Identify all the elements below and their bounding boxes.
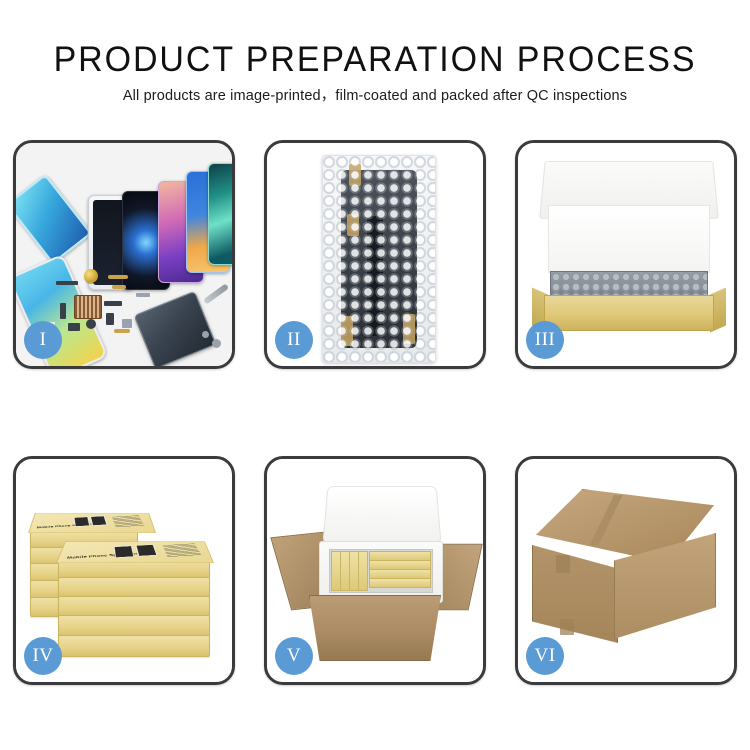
page-title: PRODUCT PREPARATION PROCESS (11, 0, 739, 79)
step-badge-3: III (526, 321, 564, 359)
spare-part (136, 293, 150, 297)
connector-grid-part (74, 295, 102, 319)
phone-display-teal (208, 163, 232, 265)
spare-part (202, 331, 209, 338)
spare-part (68, 323, 80, 331)
box-label-window (136, 544, 158, 556)
spare-part (86, 319, 96, 329)
step-badge-2: II (275, 321, 313, 359)
spare-part (108, 275, 128, 279)
spare-part (56, 281, 78, 285)
tape-strip (403, 314, 415, 344)
box-lid-top: Mobile Phone Spare Parts (56, 541, 214, 563)
stacked-box (58, 615, 210, 637)
stacked-box (58, 596, 210, 617)
process-step-3: III (515, 140, 737, 369)
carton-left-face (532, 545, 618, 643)
process-step-grid: I II (13, 140, 737, 685)
spare-part (212, 339, 221, 348)
process-step-6: VI (515, 456, 737, 685)
spare-part (104, 301, 122, 306)
page-subtitle: All products are image-printed，film-coat… (0, 79, 750, 105)
carton-tape (556, 555, 570, 573)
carton-tape (560, 619, 574, 635)
step-badge-4: IV (24, 637, 62, 675)
packed-box (369, 578, 431, 588)
step-badge-6: VI (526, 637, 564, 675)
step-badge-1: I (24, 321, 62, 359)
foam-sheet (548, 205, 710, 273)
spare-part (106, 313, 114, 325)
box-lid-top: Mobile Phone Spare Parts (28, 513, 156, 533)
repair-tool (203, 283, 229, 304)
foam-box-lid (322, 486, 441, 544)
process-step-2: II (264, 140, 486, 369)
product-preparation-process-infographic: PRODUCT PREPARATION PROCESS All products… (0, 0, 750, 750)
carton-body (309, 595, 441, 661)
spare-part (60, 303, 66, 319)
box-label-window (114, 546, 135, 558)
phone-back-plate (16, 174, 92, 265)
vibration-motor-part (84, 269, 98, 283)
step-badge-5: V (275, 637, 313, 675)
spare-part (114, 329, 130, 333)
box-front-panel (544, 295, 714, 331)
stacked-box (58, 577, 210, 598)
box-label-window (74, 517, 91, 527)
spare-part (112, 285, 126, 289)
stacked-box (58, 635, 210, 657)
tape-strip (341, 316, 353, 346)
process-step-1: I (13, 140, 235, 369)
bubble-wrap-bag (322, 155, 436, 363)
spare-part (122, 319, 132, 328)
wrapped-flex-cable (367, 216, 383, 336)
process-step-5: V (264, 456, 486, 685)
process-row-bottom: Mobile Phone Spare Parts (13, 456, 737, 685)
box-label-window (90, 516, 107, 526)
tape-strip (347, 214, 359, 236)
tape-strip (349, 164, 361, 186)
header: PRODUCT PREPARATION PROCESS All products… (0, 0, 750, 105)
box-label-lines (112, 515, 144, 527)
packed-box (358, 551, 368, 591)
process-row-top: I II (13, 140, 737, 369)
process-step-4: Mobile Phone Spare Parts (13, 456, 235, 685)
box-label-lines (163, 543, 202, 557)
box-stack: Mobile Phone Spare Parts (26, 477, 226, 667)
